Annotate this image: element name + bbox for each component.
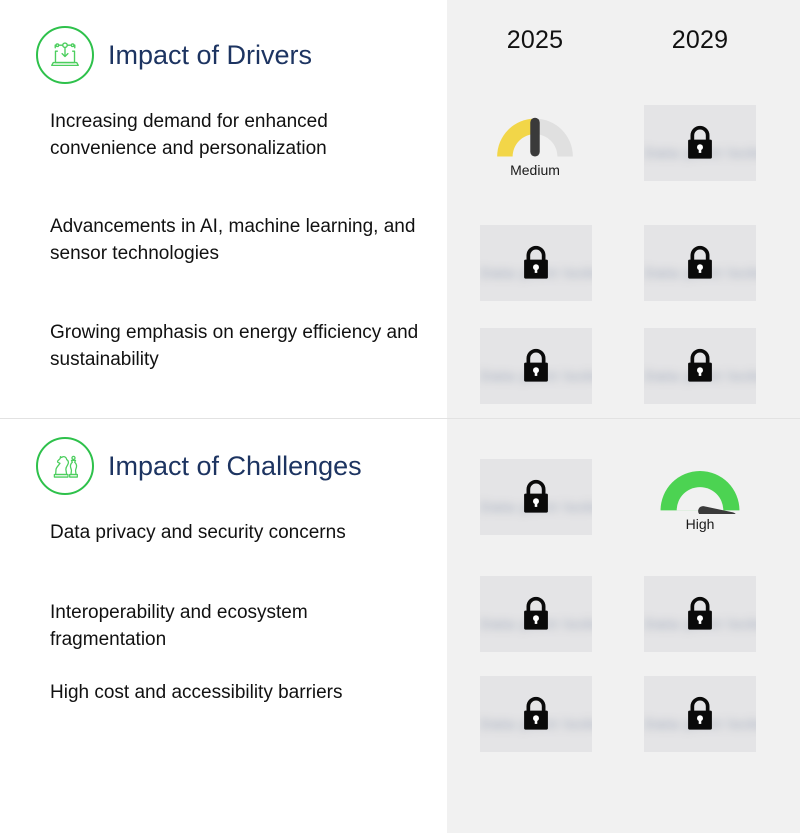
gauge-value-challenge-1-2029: High bbox=[686, 516, 715, 532]
locked-cell-driver-3-2025[interactable]: Data point locked bbox=[480, 328, 592, 404]
locked-cell-challenge-2-2029[interactable]: Data point locked bbox=[644, 576, 756, 652]
section-divider bbox=[0, 418, 800, 419]
locked-cell-challenge-3-2025[interactable]: Data point locked bbox=[480, 676, 592, 752]
section-title-challenges: Impact of Challenges bbox=[108, 451, 362, 482]
locked-cell-challenge-1-2025[interactable]: Data point locked bbox=[480, 459, 592, 535]
lock-icon bbox=[519, 347, 553, 385]
gauge-dial-high bbox=[655, 462, 745, 514]
row-label-challenge-3: High cost and accessibility barriers bbox=[50, 679, 425, 706]
lock-icon bbox=[519, 595, 553, 633]
chess-pieces-icon bbox=[36, 437, 94, 495]
lock-icon bbox=[519, 478, 553, 516]
row-label-challenge-2: Interoperability and ecosystem fragmenta… bbox=[50, 599, 425, 653]
lock-icon bbox=[683, 347, 717, 385]
column-header-2029: 2029 bbox=[640, 26, 760, 55]
row-label-challenge-1: Data privacy and security concerns bbox=[50, 519, 425, 546]
impact-matrix: 2025 2029 Impact of Drivers Increasing d… bbox=[0, 0, 800, 833]
laptop-download-icon bbox=[36, 26, 94, 84]
locked-cell-challenge-3-2029[interactable]: Data point locked bbox=[644, 676, 756, 752]
lock-icon bbox=[683, 695, 717, 733]
locked-cell-driver-2-2025[interactable]: Data point locked bbox=[480, 225, 592, 301]
row-label-driver-2: Advancements in AI, machine learning, an… bbox=[50, 213, 425, 267]
gauge-driver-1-2025: Medium bbox=[475, 110, 595, 178]
column-header-2025: 2025 bbox=[475, 26, 595, 55]
locked-cell-challenge-2-2025[interactable]: Data point locked bbox=[480, 576, 592, 652]
lock-icon bbox=[519, 695, 553, 733]
lock-icon bbox=[683, 124, 717, 162]
section-title-drivers: Impact of Drivers bbox=[108, 40, 312, 71]
lock-icon bbox=[683, 595, 717, 633]
lock-icon bbox=[683, 244, 717, 282]
locked-cell-driver-3-2029[interactable]: Data point locked bbox=[644, 328, 756, 404]
section-header-drivers: Impact of Drivers bbox=[36, 26, 312, 84]
locked-cell-driver-1-2029[interactable]: Data point locked bbox=[644, 105, 756, 181]
lock-icon bbox=[519, 244, 553, 282]
section-header-challenges: Impact of Challenges bbox=[36, 437, 362, 495]
row-label-driver-1: Increasing demand for enhanced convenien… bbox=[50, 108, 425, 162]
gauge-dial-medium bbox=[492, 110, 578, 160]
locked-cell-driver-2-2029[interactable]: Data point locked bbox=[644, 225, 756, 301]
gauge-challenge-1-2029: High bbox=[640, 462, 760, 532]
gauge-value-driver-1-2025: Medium bbox=[510, 162, 560, 178]
row-label-driver-3: Growing emphasis on energy efficiency an… bbox=[50, 319, 425, 373]
